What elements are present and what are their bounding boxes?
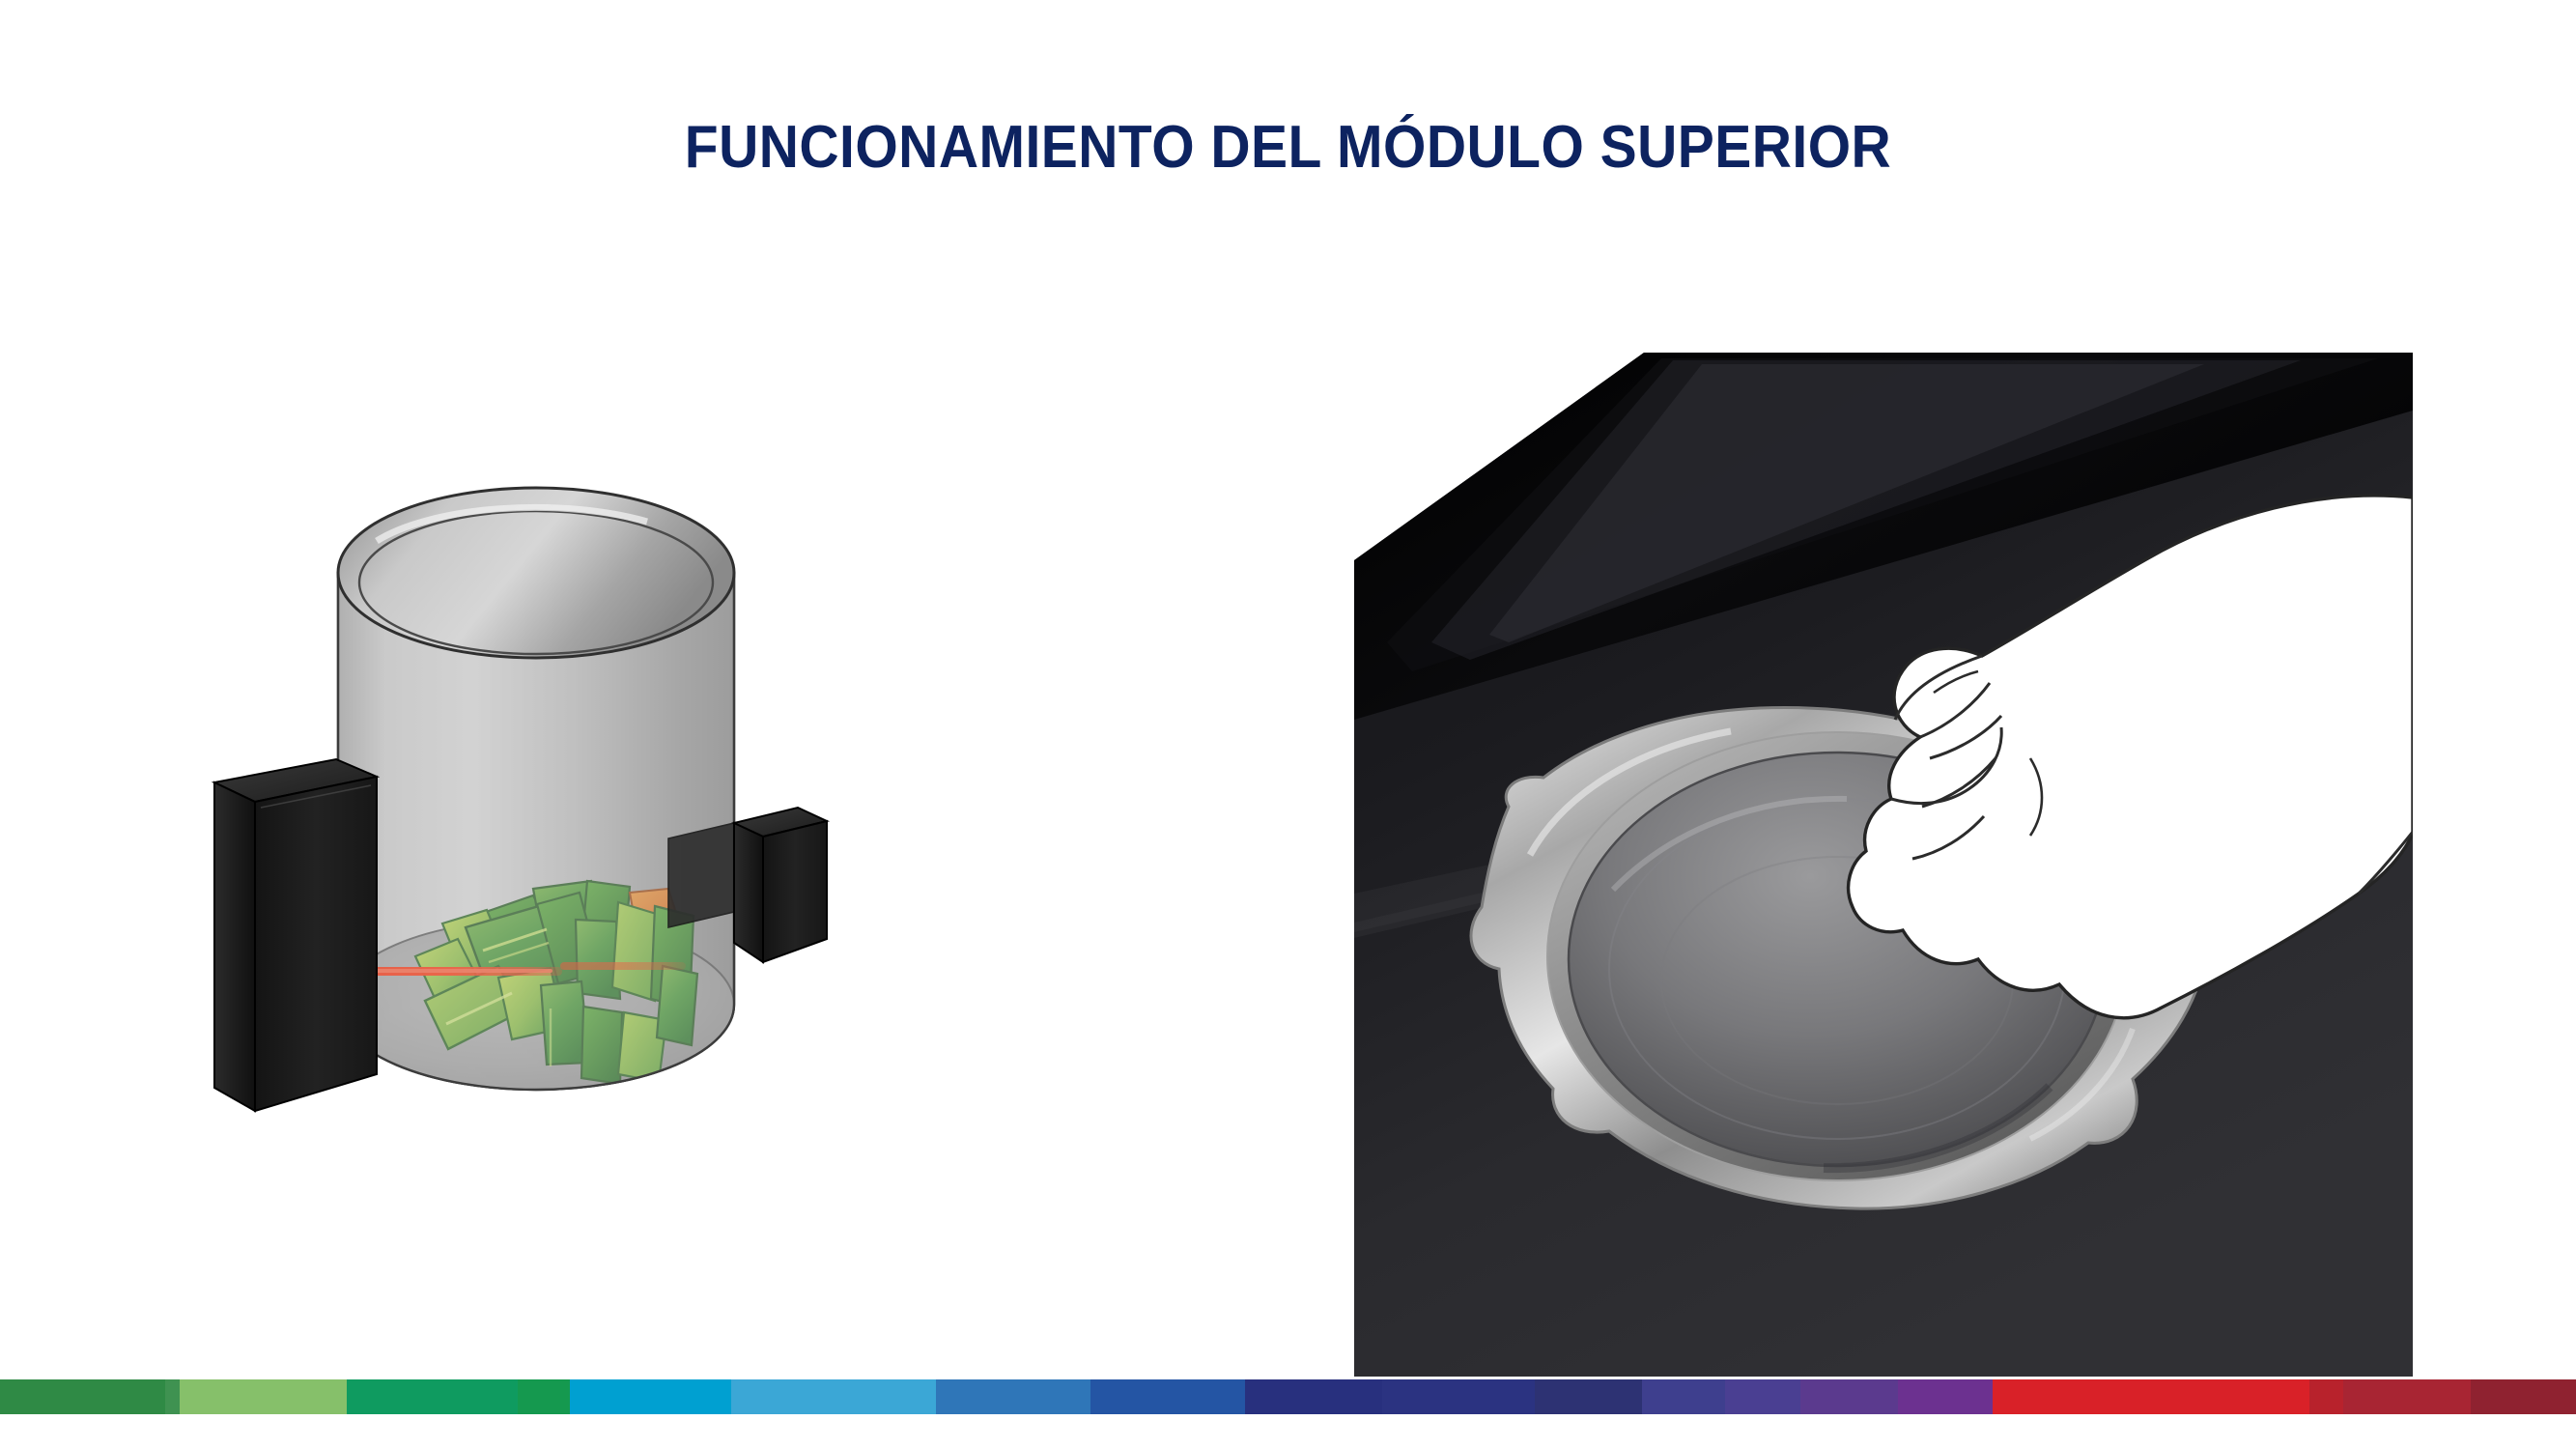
color-band-segment-18 xyxy=(2343,1379,2471,1414)
drum-rim xyxy=(338,488,734,658)
slide-canvas: FUNCIONAMIENTO DEL MÓDULO SUPERIOR Tambo… xyxy=(0,0,2576,1449)
color-band-segment-3 xyxy=(347,1379,518,1414)
color-band-segment-7 xyxy=(936,1379,1090,1414)
color-band-segment-15 xyxy=(1898,1379,1994,1414)
figure-upper-module-photo: Panel negro con una boca de carga metáli… xyxy=(1354,353,2413,1377)
laser-emitter-box xyxy=(214,759,377,1111)
color-band-segment-4 xyxy=(518,1379,570,1414)
color-band-segment-2 xyxy=(180,1379,347,1414)
color-band-segment-9 xyxy=(1245,1379,1381,1414)
color-band-segment-10 xyxy=(1382,1379,1535,1414)
color-band-segment-0 xyxy=(0,1379,165,1414)
color-band-segment-16 xyxy=(1993,1379,2308,1414)
color-band-segment-13 xyxy=(1725,1379,1800,1414)
color-band-segment-6 xyxy=(731,1379,936,1414)
color-band-segment-14 xyxy=(1800,1379,1897,1414)
page-title: FUNCIONAMIENTO DEL MÓDULO SUPERIOR xyxy=(103,116,2474,179)
color-band-segment-5 xyxy=(570,1379,731,1414)
slide-content: Tambor cilíndrico gris translúcido con t… xyxy=(0,174,2576,1362)
color-band-segment-12 xyxy=(1642,1379,1725,1414)
color-band-segment-17 xyxy=(2309,1379,2343,1414)
decorative-color-band xyxy=(0,1379,2576,1414)
color-band-segment-11 xyxy=(1535,1379,1643,1414)
color-band-segment-19 xyxy=(2471,1379,2576,1414)
color-band-segment-1 xyxy=(165,1379,180,1414)
color-band-segment-8 xyxy=(1090,1379,1245,1414)
figure-drum-laser-illustration: Tambor cilíndrico gris translúcido con t… xyxy=(193,386,1043,1179)
